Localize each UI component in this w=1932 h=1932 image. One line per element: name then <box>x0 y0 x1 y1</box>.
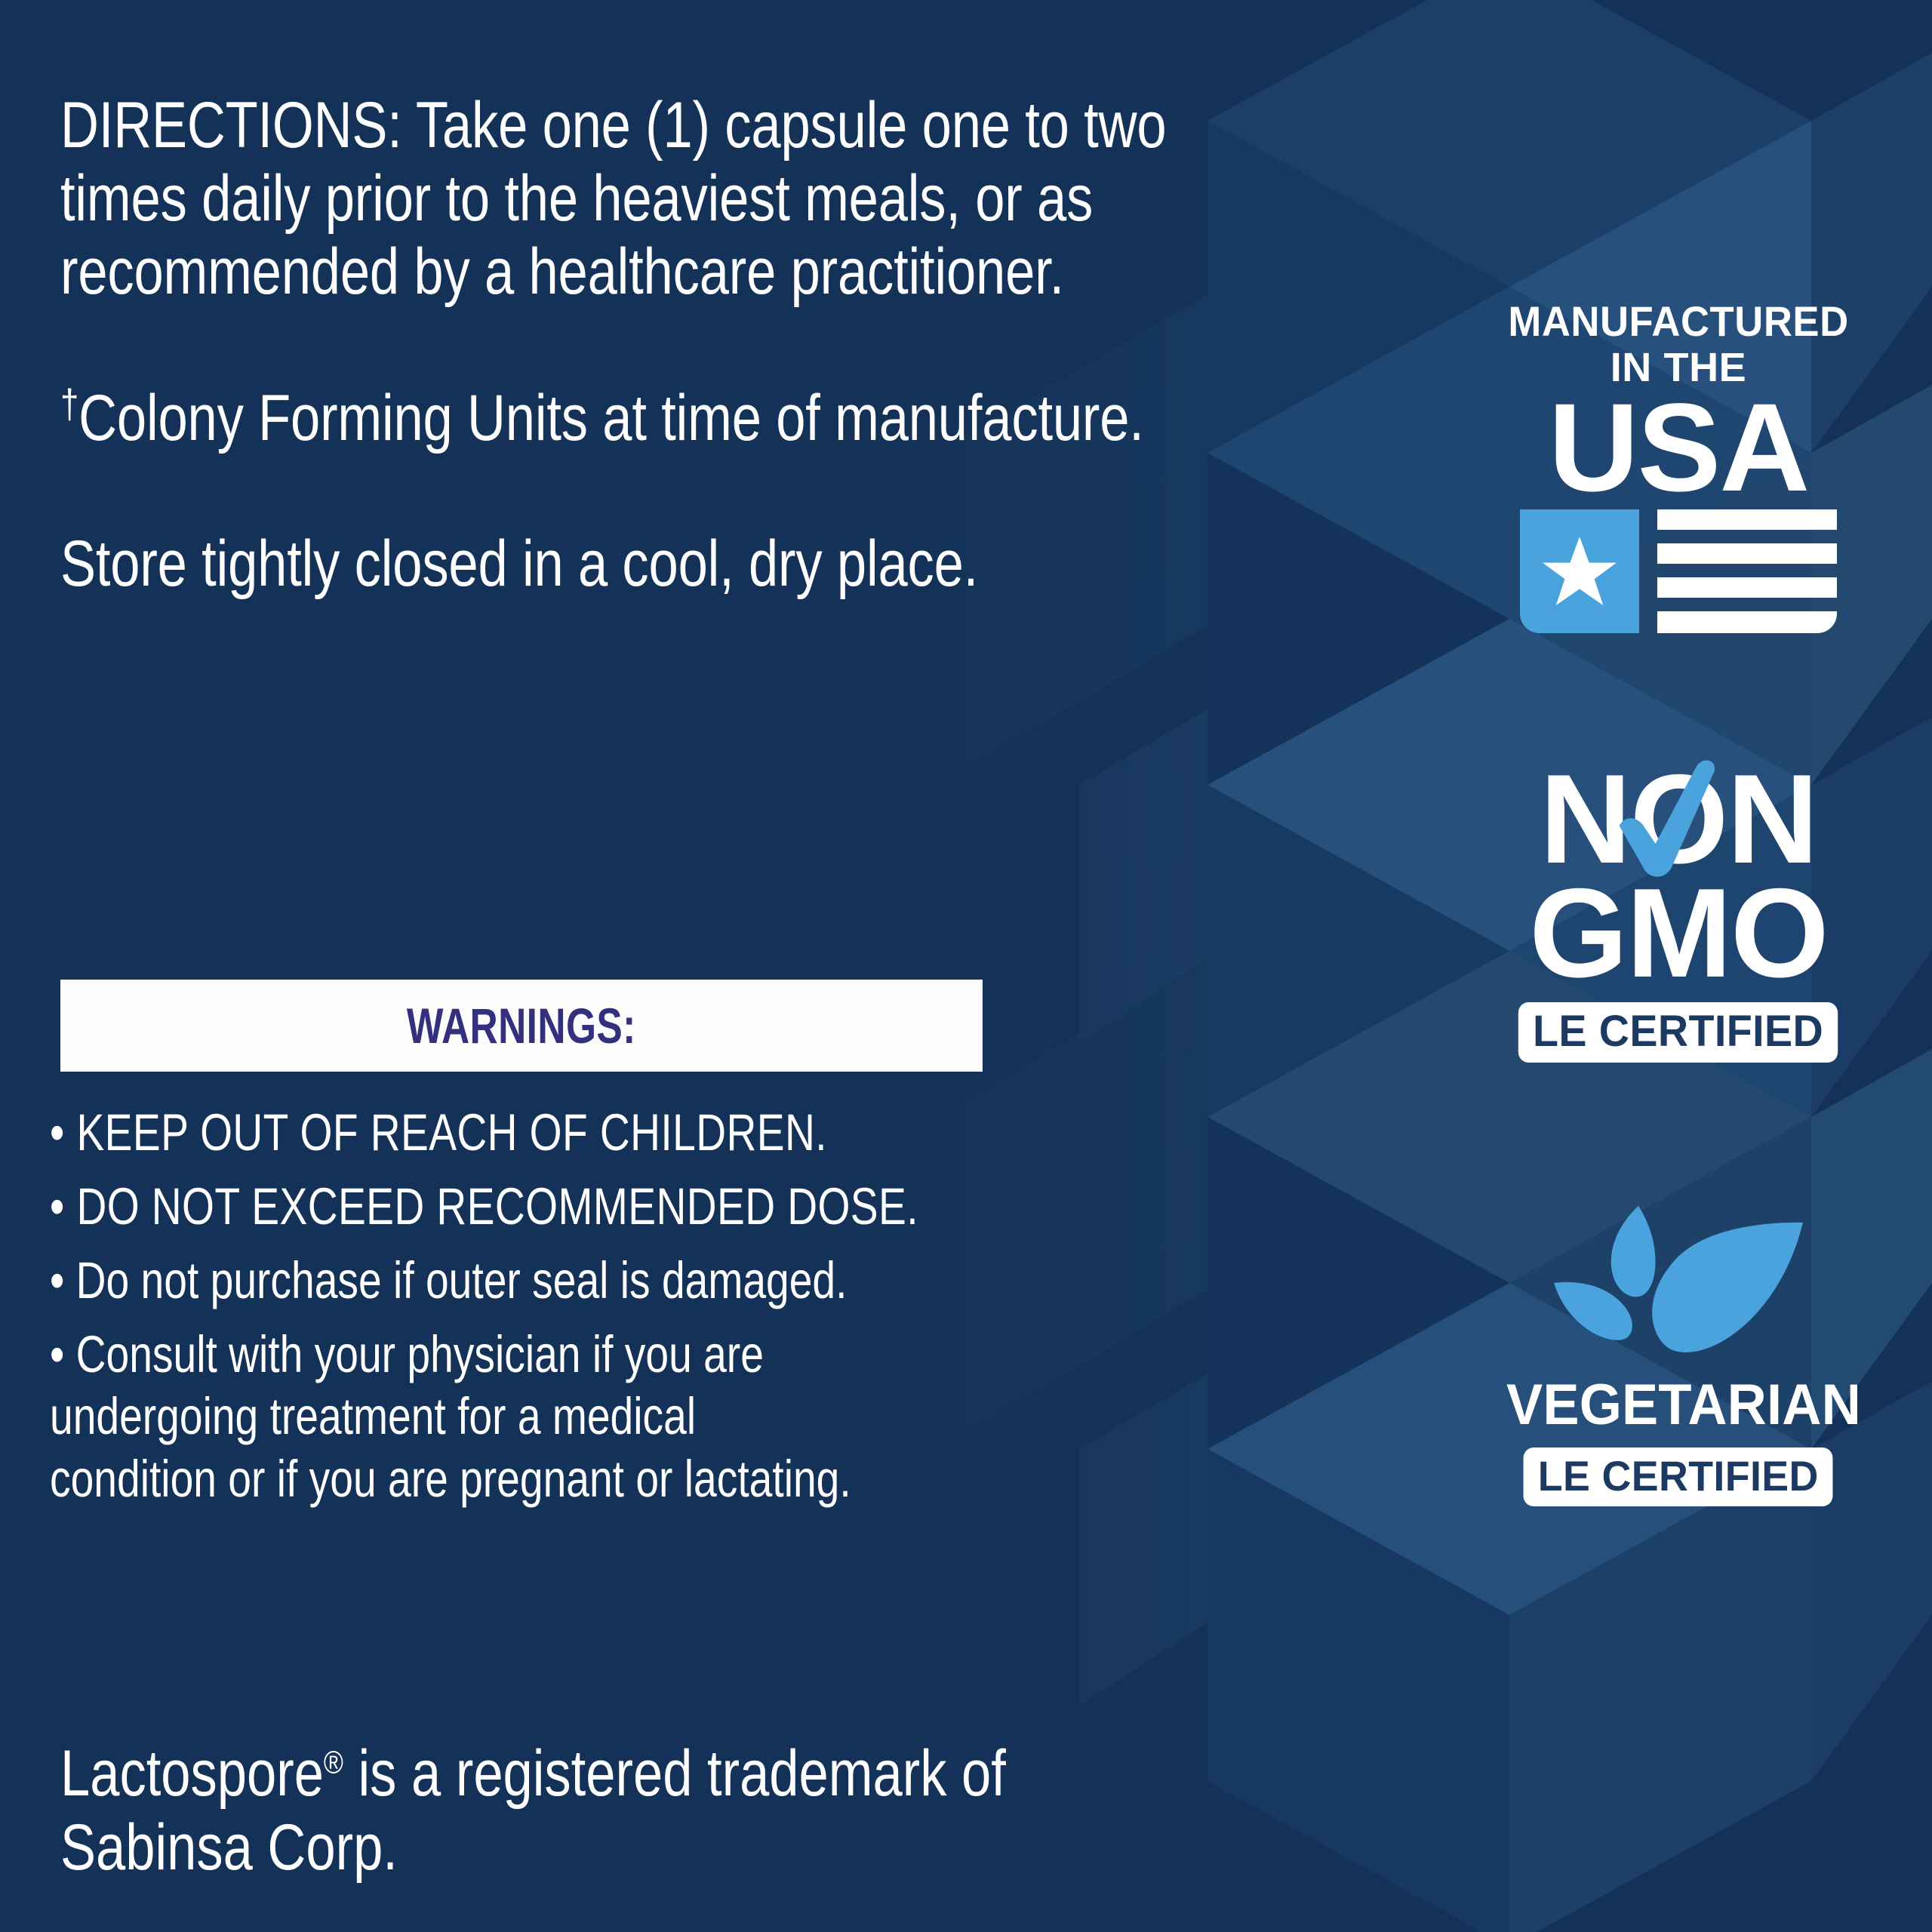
registered-mark-icon: ® <box>324 1744 343 1780</box>
non-gmo-line2: GMO <box>1497 876 1860 990</box>
usa-badge-line1: MANUFACTURED <box>1508 300 1848 343</box>
usa-badge-word: USA <box>1497 391 1860 506</box>
trademark-note: Lactospore® is a registered trademark of… <box>60 1737 1026 1884</box>
non-gmo-certification-badge: LE CERTIFIED <box>1518 1002 1838 1063</box>
warnings-banner: WARNINGS: <box>60 980 983 1072</box>
vegetarian-certification-badge: LE CERTIFIED <box>1524 1447 1833 1506</box>
non-gmo-line1: NON <box>1497 762 1860 876</box>
trademark-brand: Lactospore <box>60 1737 324 1810</box>
dagger-symbol: † <box>60 382 78 426</box>
warnings-title: WARNINGS: <box>407 997 636 1054</box>
badge-vegetarian: VEGETARIAN LE CERTIFIED <box>1497 1201 1860 1506</box>
vegetarian-word: VEGETARIAN <box>1506 1377 1850 1434</box>
non-gmo-wordmark: NON <box>1497 762 1860 876</box>
cfu-footnote-paragraph: †Colony Forming Units at time of manufac… <box>60 382 1178 455</box>
cfu-footnote-text: Colony Forming Units at time of manufact… <box>78 382 1144 454</box>
directions-paragraph: DIRECTIONS: Take one (1) capsule one to … <box>60 89 1178 309</box>
supplement-label-panel: DIRECTIONS: Take one (1) capsule one to … <box>0 0 1932 1932</box>
warnings-list: • KEEP OUT OF REACH OF CHILDREN. • DO NO… <box>50 1102 1197 1522</box>
directions-text-column: DIRECTIONS: Take one (1) capsule one to … <box>60 89 1177 601</box>
warning-item: • KEEP OUT OF REACH OF CHILDREN. <box>50 1102 1197 1164</box>
warning-item: • DO NOT EXCEED RECOMMENDED DOSE. <box>50 1176 1197 1238</box>
warning-item: • Consult with your physician if you are… <box>50 1324 1197 1509</box>
badge-manufactured-in-usa: MANUFACTURED IN THE USA <box>1497 300 1860 633</box>
leaf-sprout-icon <box>1554 1201 1803 1360</box>
warning-item: • Do not purchase if outer seal is damag… <box>50 1250 1197 1312</box>
usa-flag-icon <box>1520 509 1837 633</box>
certification-badge-column: MANUFACTURED IN THE USA NON <box>1497 0 1860 1932</box>
badge-non-gmo: NON GMO LE CERTIFIED <box>1497 762 1860 1063</box>
storage-paragraph: Store tightly closed in a cool, dry plac… <box>60 528 1178 601</box>
